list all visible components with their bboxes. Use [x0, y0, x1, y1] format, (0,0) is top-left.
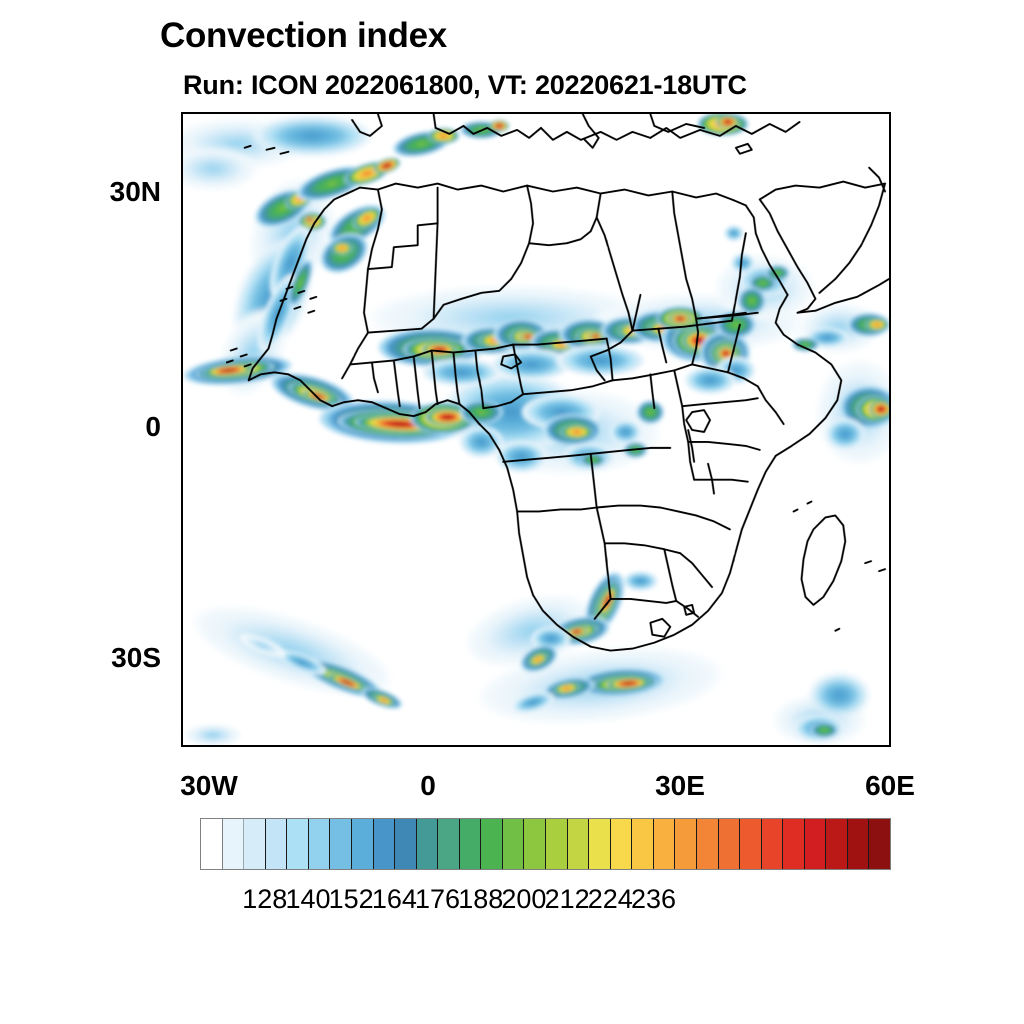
xtick-top-50e: [823, 112, 825, 114]
xtick-top-10w: [340, 112, 342, 114]
colorbar-cell: [503, 819, 525, 869]
colorbar-cell: [632, 819, 654, 869]
colorbar-tick-label: 176: [415, 884, 460, 915]
xtick-top-10e: [513, 112, 515, 114]
xtick-top-40e: [765, 112, 767, 114]
colorbar-cell: [201, 819, 223, 869]
xtick-label-0: 0: [420, 770, 436, 802]
colorbar-tick-label: 164: [372, 884, 417, 915]
xtick-30e: [681, 745, 683, 747]
colorbar-cell: [417, 819, 439, 869]
ytick-label-30n: 30N: [110, 176, 161, 208]
ytick-right-20s: [889, 582, 891, 584]
run-valid-time-subtitle: Run: ICON 2022061800, VT: 20220621-18UTC: [183, 70, 747, 101]
ytick-right-10n: [889, 351, 891, 353]
colorbar-cell: [244, 819, 266, 869]
colorbar-tick-label: 128: [242, 884, 287, 915]
map-plot-area[interactable]: [181, 112, 891, 747]
xtick-top-0: [429, 112, 431, 114]
colorbar-cell: [330, 819, 352, 869]
colorbar-tick-label: 236: [631, 884, 676, 915]
colorbar-tick-label: 224: [588, 884, 633, 915]
ytick-right-30n: [889, 194, 891, 196]
ytick-10s: [181, 507, 183, 509]
ytick-30s: [181, 660, 183, 662]
colorbar-cell: [826, 819, 848, 869]
ytick-right-30s: [889, 660, 891, 662]
page-title: Convection index: [160, 16, 447, 56]
colorbar-cell: [460, 819, 482, 869]
colorbar-cell: [223, 819, 245, 869]
xtick-60e: [890, 745, 891, 747]
colorbar-cell: [287, 819, 309, 869]
xtick-top-30w: [182, 112, 184, 114]
ytick-label-30s: 30S: [111, 642, 161, 674]
xtick-40e: [765, 745, 767, 747]
colorbar-cell: [524, 819, 546, 869]
xtick-10e: [513, 745, 515, 747]
xtick-0: [429, 745, 431, 747]
colorbar-tick-label: 140: [285, 884, 330, 915]
colorbar-cell: [374, 819, 396, 869]
ytick-right-0: [889, 429, 891, 431]
ytick-label-0: 0: [145, 411, 161, 443]
xtick-label-30e: 30E: [655, 770, 705, 802]
colorbar-cell: [481, 819, 503, 869]
ytick-20n: [181, 272, 183, 274]
colorbar-cell: [762, 819, 784, 869]
xtick-top-20e: [597, 112, 599, 114]
colorbar-cell: [589, 819, 611, 869]
ytick-20s: [181, 582, 183, 584]
colorbar-cell: [719, 819, 741, 869]
colorbar-cell: [611, 819, 633, 869]
colorbar-tick-label: 212: [545, 884, 590, 915]
colorbar-cell: [848, 819, 870, 869]
colorbar-cell: [697, 819, 719, 869]
colorbar-cell: [266, 819, 288, 869]
xtick-30w: [182, 745, 184, 747]
xtick-top-20w: [256, 112, 258, 114]
colorbar-cell: [438, 819, 460, 869]
colorbar-cell: [309, 819, 331, 869]
colorbar-cell: [675, 819, 697, 869]
ytick-right-20n: [889, 272, 891, 274]
colorbar-tick-label: 188: [458, 884, 503, 915]
xtick-label-60e: 60E: [865, 770, 915, 802]
colorbar-cell: [546, 819, 568, 869]
colorbar-cell: [395, 819, 417, 869]
ytick-right-10s: [889, 507, 891, 509]
xtick-20w: [256, 745, 258, 747]
colorbar-cell: [568, 819, 590, 869]
ytick-10n: [181, 351, 183, 353]
colorbar[interactable]: [200, 818, 891, 870]
colorbar-tick-label: 200: [501, 884, 546, 915]
colorbar-cell: [352, 819, 374, 869]
xtick-20e: [597, 745, 599, 747]
xtick-50e: [823, 745, 825, 747]
colorbar-cell: [740, 819, 762, 869]
xtick-10w: [340, 745, 342, 747]
colorbar-cell: [805, 819, 827, 869]
xtick-top-30e: [681, 112, 683, 114]
xtick-top-60e: [890, 112, 891, 114]
colorbar-cell: [783, 819, 805, 869]
colorbar-cell: [654, 819, 676, 869]
colorbar-cell: [869, 819, 890, 869]
colorbar-tick-label: 152: [329, 884, 374, 915]
convection-index-heatmap: [183, 114, 889, 745]
ytick-0: [181, 429, 183, 431]
xtick-label-30w: 30W: [180, 770, 238, 802]
ytick-30n: [181, 194, 183, 196]
